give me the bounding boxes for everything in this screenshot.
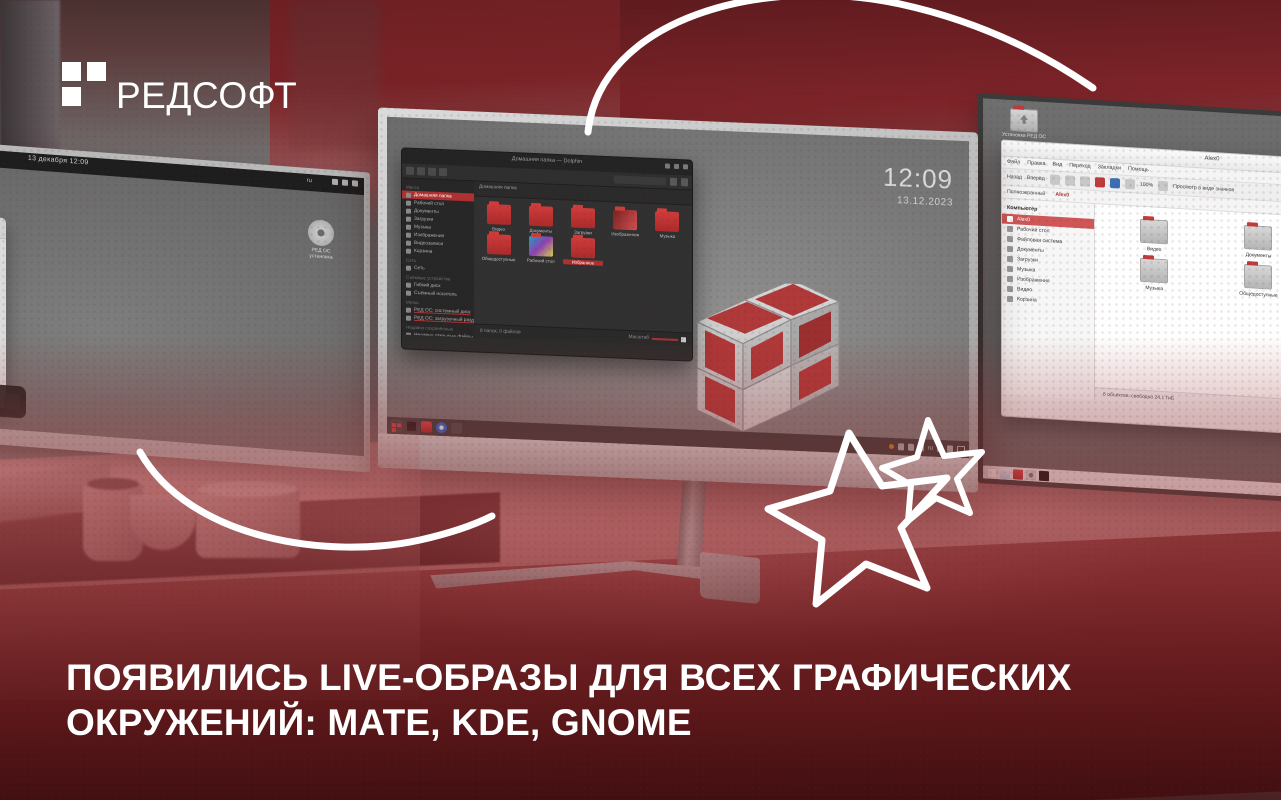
- gnome-keyboard-layout[interactable]: ru: [307, 178, 312, 184]
- trash-icon: [406, 248, 411, 253]
- zoom-slider[interactable]: Масштаб: [628, 335, 686, 342]
- mate-sidebar[interactable]: Компьютер Alex0 Рабочий стол Файловая си…: [1002, 199, 1095, 401]
- forward-button[interactable]: Вперёд: [1027, 175, 1045, 182]
- up-icon[interactable]: [1050, 174, 1060, 185]
- folder-icon: [571, 208, 595, 229]
- banner-root: РЕД ОС установка Рабочий стол Документы …: [0, 0, 1281, 800]
- list-item[interactable]: Видео: [1105, 217, 1203, 256]
- network-icon[interactable]: [332, 179, 338, 185]
- folder-icon: [1244, 264, 1272, 290]
- pictures-folder-icon: [613, 209, 637, 230]
- gnome-file-manager-window[interactable]: Рабочий стол Документы Загрузки Изображе…: [0, 198, 6, 408]
- clock-icon: [406, 332, 411, 337]
- menu-file[interactable]: Файл: [1007, 159, 1020, 169]
- logo-square-top-left: [62, 62, 81, 81]
- zoom-handle[interactable]: [681, 337, 686, 342]
- home-icon: [406, 192, 411, 197]
- kde-toolbar-left[interactable]: [406, 167, 447, 177]
- video-icon: [1007, 286, 1013, 292]
- power-icon[interactable]: [352, 180, 358, 186]
- folder-icon: [487, 204, 511, 225]
- disc-icon: [308, 219, 334, 247]
- menu-bookmarks[interactable]: Закладки: [1098, 164, 1121, 174]
- hamburger-menu-icon[interactable]: [681, 178, 688, 186]
- list-item[interactable]: Рабочий стол: [521, 235, 560, 264]
- computer-icon[interactable]: [1110, 178, 1120, 189]
- status-text: 8 папок, 0 файлов: [480, 329, 521, 336]
- close-icon[interactable]: [683, 164, 688, 169]
- kde-toolbar-right[interactable]: [614, 175, 688, 186]
- monitor-left-screen: РЕД ОС установка Рабочий стол Документы …: [0, 134, 364, 456]
- mate-window-body: Компьютер Alex0 Рабочий стол Файловая си…: [1002, 199, 1281, 420]
- image-file-icon: [529, 236, 553, 257]
- floppy-icon: [406, 282, 411, 287]
- kde-window-controls[interactable]: [665, 163, 688, 169]
- install-folder-icon: [1010, 108, 1038, 133]
- logo-square-bottom-left: [62, 87, 81, 106]
- menu-edit[interactable]: Правка: [1027, 160, 1045, 170]
- panel-red-os-menu-icon[interactable]: [391, 420, 402, 431]
- zoom-out-icon[interactable]: [1125, 179, 1135, 190]
- maximize-icon[interactable]: [674, 164, 679, 169]
- gnome-system-tray[interactable]: [332, 179, 358, 187]
- back-button[interactable]: Назад: [1007, 174, 1022, 181]
- zoom-in-icon[interactable]: [1158, 181, 1168, 192]
- list-item[interactable]: Музыка: [1105, 256, 1203, 295]
- music-icon: [406, 224, 411, 229]
- gnome-clock[interactable]: 13 декабря 12:09: [28, 155, 89, 167]
- network-icon: [406, 265, 411, 270]
- kde-desktop: 12:09 13.12.2023: [387, 117, 969, 458]
- folder-icon: [487, 234, 511, 255]
- panel-files-icon[interactable]: [1013, 469, 1023, 480]
- notification-icon[interactable]: [889, 444, 894, 449]
- kde-status-bar: 8 папок, 0 файлов Масштаб: [474, 323, 692, 346]
- folder-icon: [1140, 258, 1168, 284]
- mate-file-grid: Видео Документы Загрузки Музыка Общедост…: [1095, 204, 1281, 319]
- background-dark-column: [290, 0, 380, 150]
- download-icon: [406, 216, 411, 221]
- panel-text-editor-icon[interactable]: [1000, 468, 1010, 479]
- reload-icon[interactable]: [1080, 176, 1090, 187]
- minimize-icon[interactable]: [665, 163, 670, 168]
- breadcrumb[interactable]: Alex0: [1055, 192, 1069, 199]
- list-item[interactable]: Загрузки: [563, 207, 602, 236]
- clock-time: 12:09: [883, 162, 953, 196]
- updates-icon[interactable]: [947, 445, 953, 452]
- list-item[interactable]: Документы: [1209, 223, 1281, 262]
- split-view-icon[interactable]: [439, 168, 447, 176]
- search-input[interactable]: [614, 175, 666, 185]
- red-squares-glyph: [391, 422, 402, 433]
- menu-view[interactable]: Вид: [1052, 162, 1062, 172]
- gnome-desktop-icon-label: РЕД ОС установка: [304, 247, 338, 262]
- folder-icon: [529, 206, 553, 227]
- network-icon[interactable]: [937, 445, 943, 452]
- volume-icon[interactable]: [342, 179, 348, 185]
- menu-help[interactable]: Помощь: [1128, 166, 1149, 176]
- list-item[interactable]: Избранное: [563, 237, 602, 266]
- music-icon: [1007, 266, 1013, 272]
- panel-terminal-icon[interactable]: [406, 421, 417, 432]
- zoom-label: Масштаб: [628, 335, 649, 341]
- desktop-icon: [406, 200, 411, 205]
- kde-window-body: Места Домашняя папка Рабочий стол Докуме…: [402, 178, 692, 346]
- jar-prop: [196, 488, 300, 558]
- home-icon[interactable]: [406, 167, 414, 175]
- desktop-icon: [1007, 226, 1013, 232]
- forward-icon[interactable]: [428, 168, 436, 176]
- video-icon: [406, 240, 411, 245]
- kde-window-title: Домашняя папка — Dolphin: [512, 156, 582, 165]
- folder-icon: [571, 238, 595, 259]
- mate-file-area: Видео Документы Загрузки Музыка Общедост…: [1095, 204, 1281, 419]
- three-squares-icon: [62, 62, 106, 110]
- kde-desktop-clock: 12:09 13.12.2023: [883, 162, 953, 209]
- gnome-desktop: РЕД ОС установка Рабочий стол Документы …: [0, 151, 364, 456]
- location-label: Полноэкранный: [1007, 189, 1045, 197]
- list-item[interactable]: Видео: [479, 204, 518, 233]
- volume-icon[interactable]: [908, 444, 914, 451]
- headline-line-2: ОКРУЖЕНИЙ: MATE, KDE, GNOME: [66, 700, 1186, 745]
- documents-icon: [406, 208, 411, 213]
- kde-system-tray[interactable]: ru: [889, 442, 965, 453]
- download-icon: [1007, 256, 1013, 262]
- mate-status-bar: 6 объектов, свободно 24,1 ГиБ: [1095, 387, 1281, 419]
- home-icon: [1007, 216, 1013, 222]
- panel-apps-icon[interactable]: [451, 422, 462, 433]
- back-icon[interactable]: [417, 167, 425, 175]
- mate-desktop-icon-install[interactable]: Установка РЕД ОС: [1001, 107, 1047, 140]
- panel-files-icon[interactable]: [421, 421, 432, 432]
- folder-icon: [1140, 219, 1168, 245]
- pictures-icon: [1007, 276, 1013, 282]
- logo-square-top-right: [87, 62, 106, 81]
- zoom-track[interactable]: [652, 337, 678, 340]
- brand-name: РЕДСОФТ: [116, 80, 297, 113]
- list-item[interactable]: Музыка: [648, 211, 687, 240]
- home-icon[interactable]: [1095, 177, 1105, 188]
- keyboard-layout[interactable]: ru: [928, 445, 933, 451]
- mate-desktop: Установка РЕД ОС Alex0 Файл Правка Вид П…: [983, 98, 1281, 501]
- list-item[interactable]: Документы: [521, 205, 560, 234]
- disk-icon: [406, 315, 411, 320]
- search-icon[interactable]: [670, 178, 677, 186]
- monitor-right-screen: Установка РЕД ОС Alex0 Файл Правка Вид П…: [983, 98, 1281, 501]
- kde-sidebar[interactable]: Места Домашняя папка Рабочий стол Докуме…: [402, 178, 474, 337]
- headline-line-1: ПОЯВИЛИСЬ LIVE-ОБРАЗЫ ДЛЯ ВСЕХ ГРАФИЧЕСК…: [66, 655, 1186, 700]
- monitor-center-screen: 12:09 13.12.2023: [387, 117, 969, 458]
- mate-file-manager-window[interactable]: Alex0 Файл Правка Вид Переход Закладки П…: [1001, 139, 1281, 441]
- pictures-icon: [406, 232, 411, 237]
- drive-icon: [1007, 236, 1013, 242]
- usb-icon: [406, 290, 411, 295]
- monitor-stand-base-right: [700, 552, 760, 604]
- panel-red-os-menu-icon[interactable]: [987, 467, 997, 478]
- zoom-level[interactable]: 100%: [1140, 182, 1153, 189]
- list-item[interactable]: Общедоступные: [1209, 262, 1281, 301]
- brand-logo[interactable]: РЕДСОФТ: [62, 62, 297, 110]
- panel-settings-icon[interactable]: [1026, 469, 1036, 480]
- list-item[interactable]: Изображения: [606, 209, 645, 238]
- folder-icon: [1007, 246, 1013, 252]
- disk-icon: [406, 307, 411, 312]
- cube-wallpaper-icon: [687, 279, 857, 436]
- kde-file-area: Домашняя папка Видео Документы Загрузки …: [474, 181, 692, 346]
- kde-file-grid: Видео Документы Загрузки Изображения Муз…: [474, 196, 692, 276]
- monitor-right-mate: Установка РЕД ОС Alex0 Файл Правка Вид П…: [978, 93, 1281, 507]
- clock-date: 13.12.2023: [883, 195, 953, 209]
- monitor-center-kde: 12:09 13.12.2023: [378, 107, 978, 492]
- page-title: ПОЯВИЛИСЬ LIVE-ОБРАЗЫ ДЛЯ ВСЕХ ГРАФИЧЕСК…: [66, 655, 1186, 745]
- dock-item-apps-grid-icon[interactable]: [4, 393, 20, 410]
- list-item[interactable]: Общедоступные: [479, 234, 518, 263]
- panel-browser-icon[interactable]: [436, 422, 447, 433]
- folder-icon: [1244, 225, 1272, 251]
- gnome-desktop-icon-install[interactable]: РЕД ОС установка: [304, 219, 338, 262]
- show-desktop-icon[interactable]: [957, 445, 965, 453]
- menu-go[interactable]: Переход: [1069, 163, 1090, 173]
- mate-window-title: Alex0: [1204, 156, 1219, 163]
- trash-icon: [1007, 296, 1013, 302]
- kde-taskbar-launchers[interactable]: [391, 420, 462, 434]
- kde-file-manager-window[interactable]: Домашняя папка — Dolphin Места: [401, 147, 693, 361]
- music-folder-icon: [655, 211, 679, 232]
- gnome-window-titlebar[interactable]: [0, 198, 6, 239]
- panel-terminal-icon[interactable]: [1039, 470, 1049, 481]
- view-mode-select[interactable]: Просмотр в виде значков: [1173, 184, 1234, 194]
- battery-icon[interactable]: [918, 444, 924, 451]
- clipboard-icon[interactable]: [898, 443, 904, 450]
- stop-icon[interactable]: [1065, 175, 1075, 186]
- monitor-left-gnome: РЕД ОС установка Рабочий стол Документы …: [0, 127, 370, 472]
